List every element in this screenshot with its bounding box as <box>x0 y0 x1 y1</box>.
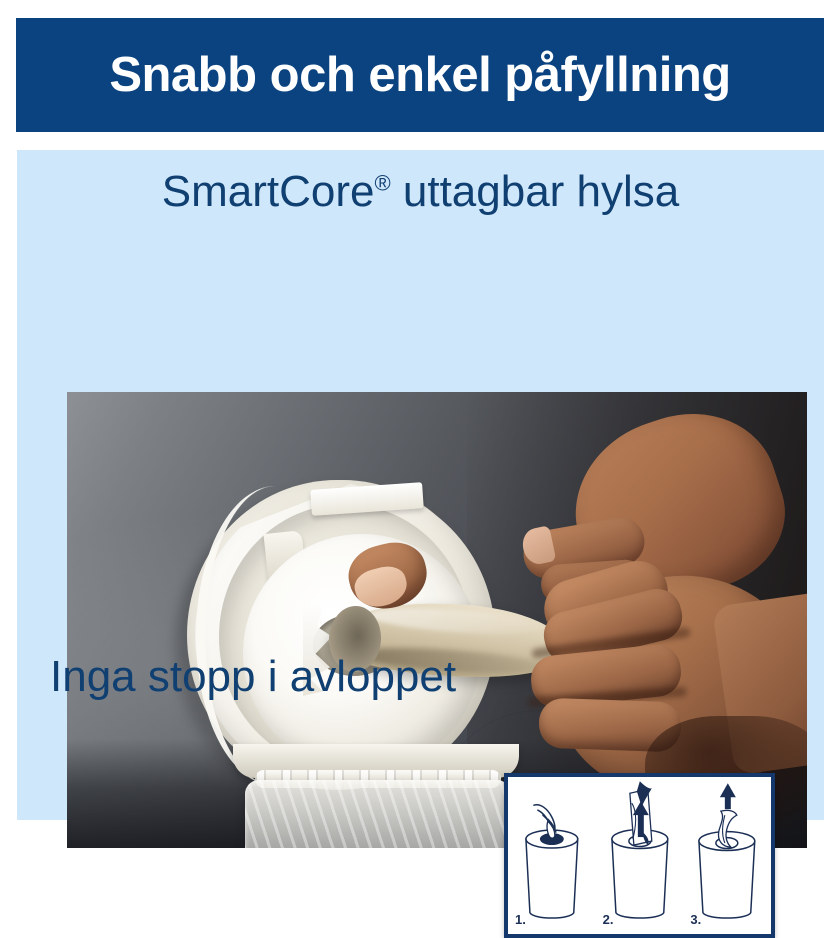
dispenser-front-cover-ribs <box>245 780 511 848</box>
instruction-step-1: 1. <box>508 777 596 934</box>
feature-title-brand: SmartCore <box>162 167 375 216</box>
instruction-step-2: 2. <box>596 777 684 934</box>
registered-trademark-icon: ® <box>374 170 390 195</box>
step-number: 3. <box>690 913 701 926</box>
step-number: 1. <box>515 913 526 926</box>
instruction-diagram: 1. <box>504 773 775 938</box>
step-1-illustration <box>508 777 596 934</box>
instruction-steps: 1. <box>508 777 771 934</box>
instruction-step-3: 3. <box>683 777 771 934</box>
step-number: 2. <box>603 913 614 926</box>
poster-root: Snabb och enkel påfyllning SmartCore® ut… <box>0 0 840 840</box>
step-2-illustration <box>596 777 684 934</box>
feature-title-rest: uttagbar hylsa <box>391 167 680 216</box>
left-hand-fingertip-on-roll <box>349 544 427 608</box>
feature-title: SmartCore® uttagbar hylsa <box>17 170 824 214</box>
content-panel: SmartCore® uttagbar hylsa <box>17 150 824 820</box>
benefit-caption: Inga stopp i avloppet <box>50 655 456 699</box>
page-title: Snabb och enkel påfyllning <box>109 51 730 100</box>
step-3-illustration <box>683 777 771 934</box>
dispenser-front-cover <box>245 780 511 848</box>
header-banner: Snabb och enkel påfyllning <box>16 18 824 132</box>
